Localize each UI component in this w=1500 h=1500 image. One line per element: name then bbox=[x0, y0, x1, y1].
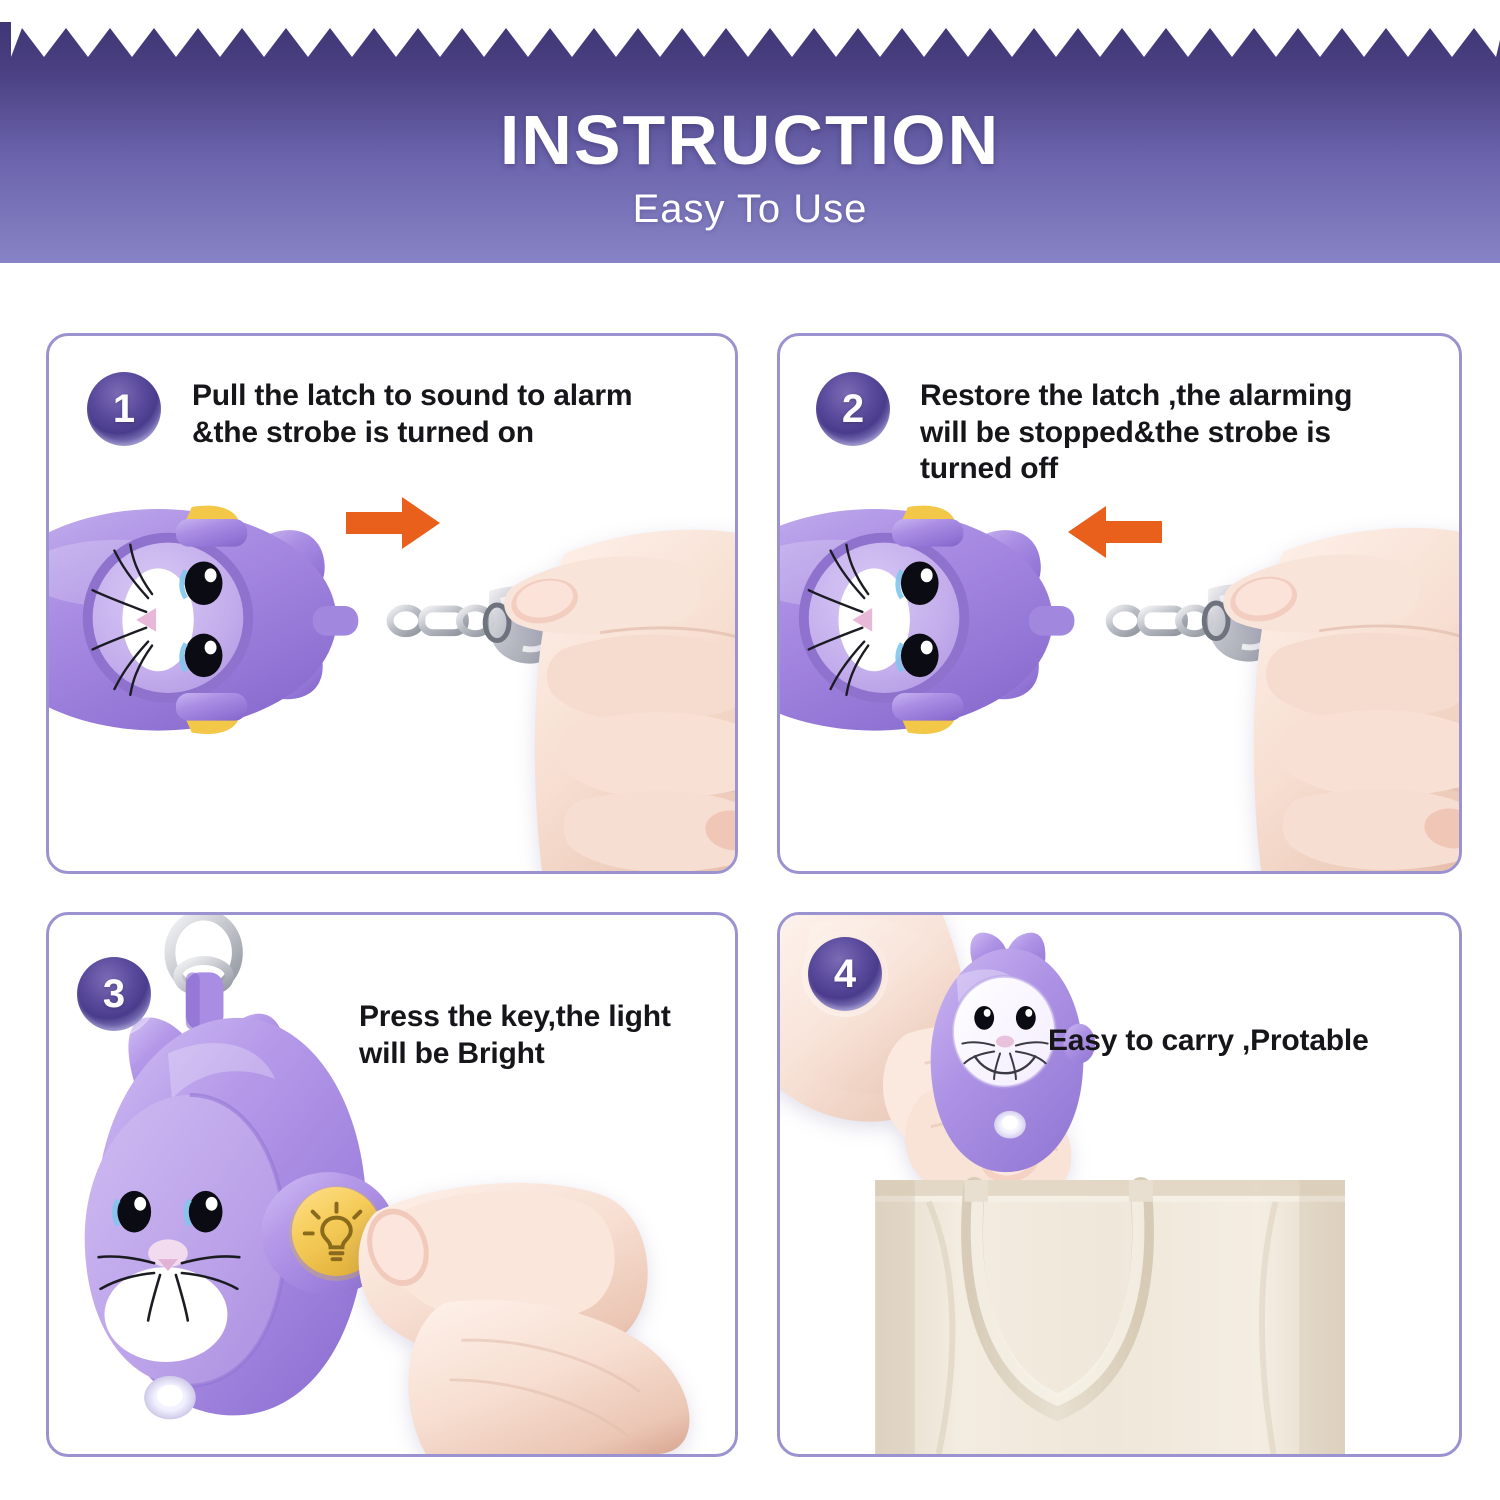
hand-right bbox=[1223, 528, 1459, 871]
keyring-chain bbox=[1109, 608, 1210, 634]
arrow-left-icon bbox=[1068, 504, 1162, 560]
arrow-right-icon bbox=[346, 495, 440, 551]
step-number-badge-1: 1 bbox=[87, 372, 161, 446]
step-panel-4[interactable]: 4 Easy to carry ,Protable bbox=[777, 912, 1462, 1457]
keyring-top bbox=[170, 915, 237, 1030]
step-number-badge-4: 4 bbox=[808, 937, 882, 1011]
step-3-text: Press the key,the light will be Bright bbox=[359, 999, 738, 1072]
step-2-text: Restore the latch ,the alarming will be … bbox=[920, 378, 1440, 488]
scene-press-light-button bbox=[49, 915, 735, 1454]
page-title: INSTRUCTION bbox=[500, 105, 1000, 175]
step-panel-2[interactable]: 2 Restore the latch ,the alarming will b… bbox=[777, 333, 1462, 874]
scene-easy-to-carry bbox=[780, 915, 1459, 1454]
finger-pressing bbox=[357, 1183, 689, 1454]
step-1-text: Pull the latch to sound to alarm &the st… bbox=[192, 378, 712, 451]
step-number-badge-2: 2 bbox=[816, 372, 890, 446]
step-panel-1[interactable]: 1 Pull the latch to sound to alarm &the … bbox=[46, 333, 738, 874]
header-banner: INSTRUCTION Easy To Use bbox=[0, 0, 1500, 263]
page-subtitle: Easy To Use bbox=[633, 189, 868, 229]
keyring-chain bbox=[390, 608, 491, 634]
step-panel-3[interactable]: 3 Press the key,the light will be Bright bbox=[46, 912, 738, 1457]
step-number-badge-3: 3 bbox=[77, 957, 151, 1031]
hand-right bbox=[504, 530, 735, 871]
step-4-text: Easy to carry ,Protable bbox=[1048, 1023, 1448, 1060]
steps-grid: 1 Pull the latch to sound to alarm &the … bbox=[46, 333, 1462, 1457]
